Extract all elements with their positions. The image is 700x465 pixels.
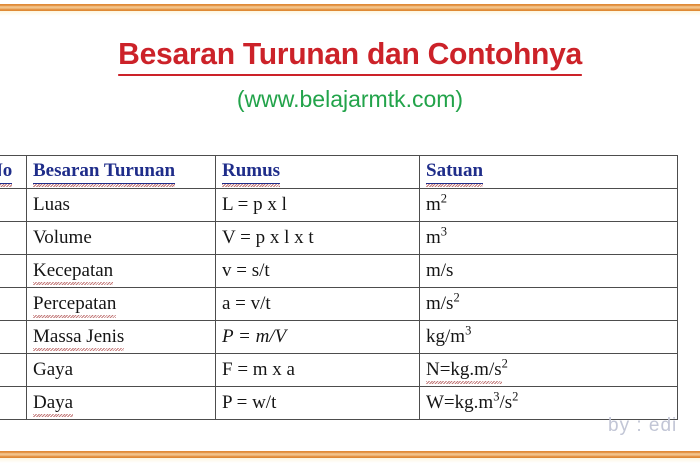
cell-no: 6 — [0, 354, 27, 387]
cell-besaran: Massa Jenis — [27, 321, 216, 354]
column-header-satuan: Satuan — [420, 156, 678, 189]
heading-block: Besaran Turunan dan Contohnya (www.belaj… — [0, 36, 700, 113]
top-orange-rule — [0, 4, 700, 11]
cell-besaran-label: Percepatan — [33, 293, 116, 315]
cell-besaran: Daya — [27, 387, 216, 420]
cell-no: 5 — [0, 321, 27, 354]
cell-rumus: v = s/t — [216, 255, 420, 288]
satuan-base: N=kg.m/s — [426, 359, 502, 381]
cell-satuan: N=kg.m/s2 — [420, 354, 678, 387]
cell-satuan: m/s2 — [420, 288, 678, 321]
cell-besaran: Kecepatan — [27, 255, 216, 288]
cell-rumus: P = m/V — [216, 321, 420, 354]
table-header: No Besaran Turunan Rumus Satuan — [0, 156, 678, 189]
page-subtitle: (www.belajarmtk.com) — [0, 86, 700, 114]
cell-no: 1 — [0, 189, 27, 222]
page-title: Besaran Turunan dan Contohnya — [118, 36, 582, 76]
table-row: 3 Kecepatan v = s/t m/s — [0, 255, 678, 288]
column-header-rumus-label: Rumus — [222, 160, 280, 184]
cell-satuan: m2 — [420, 189, 678, 222]
satuan-exponent-2: 2 — [512, 389, 518, 403]
table-row: 5 Massa Jenis P = m/V kg/m3 — [0, 321, 678, 354]
page-root: { "document": { "title": "Besaran Turuna… — [0, 0, 700, 465]
satuan-exponent: 3 — [465, 323, 471, 337]
cell-satuan: kg/m3 — [420, 321, 678, 354]
satuan-exponent: 2 — [502, 356, 508, 370]
column-header-satuan-label: Satuan — [426, 160, 483, 184]
cell-no: 3 — [0, 255, 27, 288]
column-header-no-label: No — [0, 160, 12, 184]
bottom-rule-glow — [0, 458, 700, 463]
cell-besaran-label: Massa Jenis — [33, 326, 124, 348]
satuan-tail: /s — [499, 392, 512, 413]
cell-besaran-label: Daya — [33, 392, 73, 414]
cell-rumus: F = m x a — [216, 354, 420, 387]
satuan-base: m — [426, 227, 441, 248]
cell-no: 4 — [0, 288, 27, 321]
satuan-base: W=kg.m — [426, 392, 493, 413]
table-body: 1 Luas L = p x l m2 2 Volume V = p x l x… — [0, 189, 678, 420]
column-header-besaran-label: Besaran Turunan — [33, 160, 175, 184]
table-header-row: No Besaran Turunan Rumus Satuan — [0, 156, 678, 189]
column-header-besaran: Besaran Turunan — [27, 156, 216, 189]
satuan-exponent: 2 — [441, 191, 447, 205]
satuan-base: m — [426, 194, 441, 215]
satuan-base: kg/m — [426, 326, 465, 347]
top-rule-glow — [0, 11, 700, 16]
satuan-base: m/s — [426, 293, 453, 314]
cell-rumus: P = w/t — [216, 387, 420, 420]
satuan-base: m/s — [426, 260, 453, 281]
column-header-no: No — [0, 156, 27, 189]
cell-rumus: L = p x l — [216, 189, 420, 222]
cell-besaran: Percepatan — [27, 288, 216, 321]
table-row: 1 Luas L = p x l m2 — [0, 189, 678, 222]
derived-quantities-table: No Besaran Turunan Rumus Satuan 1 Luas L… — [0, 155, 678, 420]
cell-no: 7 — [0, 387, 27, 420]
cell-besaran: Gaya — [27, 354, 216, 387]
cell-no: 2 — [0, 222, 27, 255]
table-row: 4 Percepatan a = v/t m/s2 — [0, 288, 678, 321]
cell-rumus: V = p x l x t — [216, 222, 420, 255]
column-header-rumus: Rumus — [216, 156, 420, 189]
cell-besaran: Volume — [27, 222, 216, 255]
cell-rumus: a = v/t — [216, 288, 420, 321]
bottom-orange-rule — [0, 451, 700, 458]
table-row: 7 Daya P = w/t W=kg.m3/s2 — [0, 387, 678, 420]
cell-satuan: m/s — [420, 255, 678, 288]
satuan-exponent: 2 — [453, 290, 459, 304]
cell-besaran: Luas — [27, 189, 216, 222]
table-row: 6 Gaya F = m x a N=kg.m/s2 — [0, 354, 678, 387]
cell-satuan: m3 — [420, 222, 678, 255]
cell-besaran-label: Kecepatan — [33, 260, 113, 282]
satuan-exponent: 3 — [441, 224, 447, 238]
table-row: 2 Volume V = p x l x t m3 — [0, 222, 678, 255]
watermark: by : edi — [608, 415, 677, 437]
derived-quantities-table-wrap: No Besaran Turunan Rumus Satuan 1 Luas L… — [0, 155, 677, 420]
